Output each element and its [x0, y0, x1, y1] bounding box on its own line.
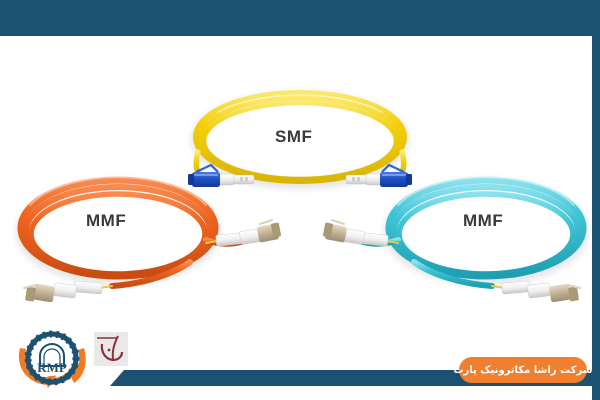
- cable-label-smf: SMF: [275, 127, 312, 147]
- screenshot-root: SMF MMF MMF RMP شرکت راشا مکاترونیک پارت: [0, 0, 600, 400]
- company-badge-label: شرکت راشا مکاترونیک پارت: [453, 365, 592, 376]
- cable-label-mmf-aqua: MMF: [463, 211, 503, 231]
- right-edge-band: [592, 0, 600, 400]
- cable-label-mmf-orange: MMF: [86, 211, 126, 231]
- rmp-logo-text: RMP: [37, 360, 67, 375]
- company-badge[interactable]: شرکت راشا مکاترونیک پارت: [459, 357, 587, 383]
- rmp-logo: RMP: [14, 328, 90, 390]
- secondary-logo: [92, 330, 132, 370]
- header-band: [0, 0, 600, 36]
